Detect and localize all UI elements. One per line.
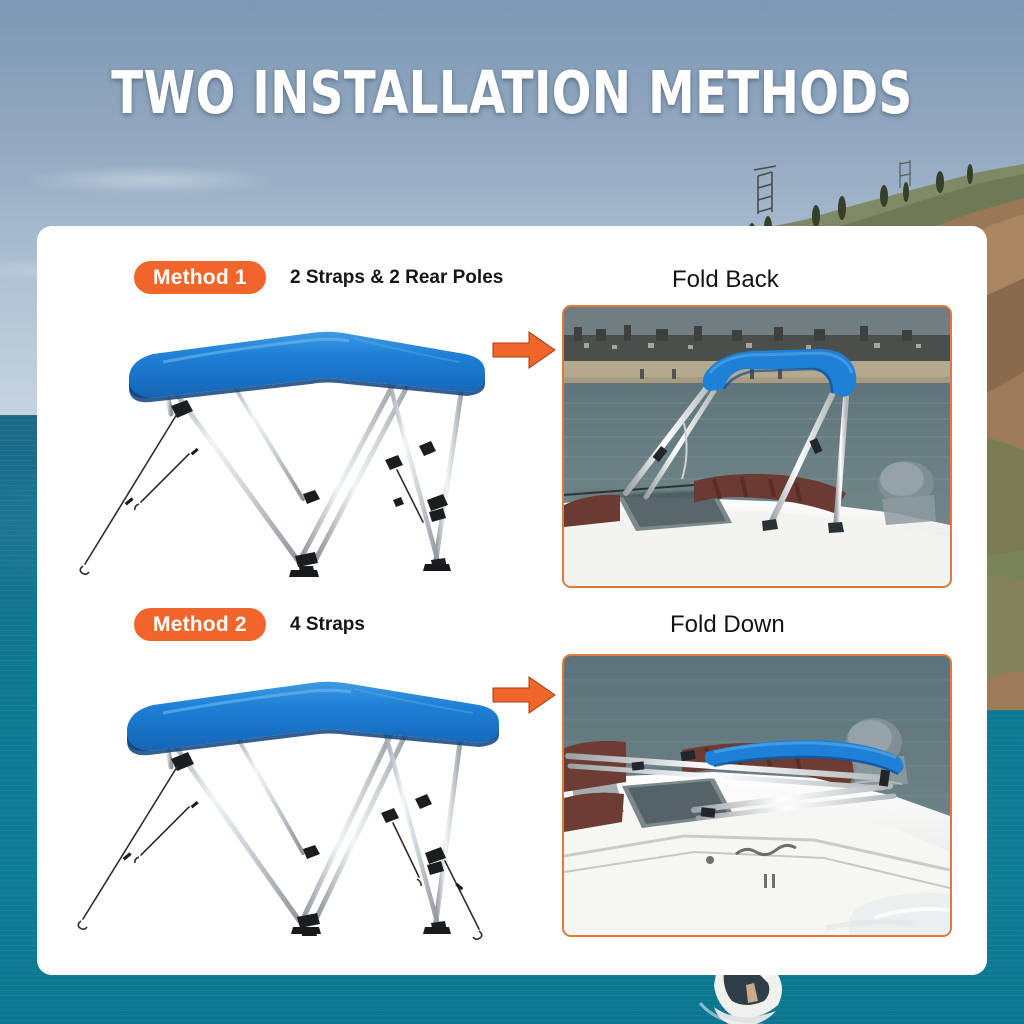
infographic-stage: TWO INSTALLATION METHODS Method 1 2 Stra… bbox=[0, 0, 1024, 1024]
method-2-fold-label: Fold Down bbox=[670, 611, 785, 639]
bimini-top-diagram-method-1 bbox=[67, 314, 497, 584]
arrow-method-1 bbox=[489, 328, 559, 377]
method-2-badge: Method 2 bbox=[134, 608, 266, 641]
method-row-2: Method 2 4 Straps Fold Down bbox=[37, 573, 987, 975]
arrow-method-2 bbox=[489, 673, 559, 722]
canopy-fabric bbox=[129, 332, 485, 403]
method-1-fold-label: Fold Back bbox=[672, 266, 779, 294]
boat-photo-fold-down bbox=[562, 654, 952, 937]
method-1-badge: Method 1 bbox=[134, 261, 266, 294]
bimini-top-diagram-method-2 bbox=[59, 661, 509, 941]
method-row-1: Method 1 2 Straps & 2 Rear Poles Fold Ba… bbox=[37, 226, 987, 601]
content-card: Method 1 2 Straps & 2 Rear Poles Fold Ba… bbox=[37, 226, 987, 975]
method-1-description: 2 Straps & 2 Rear Poles bbox=[290, 267, 503, 289]
canopy-fabric-2 bbox=[127, 682, 499, 756]
boat-photo-fold-back bbox=[562, 305, 952, 588]
page-title: TWO INSTALLATION METHODS bbox=[61, 58, 962, 127]
method-2-description: 4 Straps bbox=[290, 614, 365, 636]
